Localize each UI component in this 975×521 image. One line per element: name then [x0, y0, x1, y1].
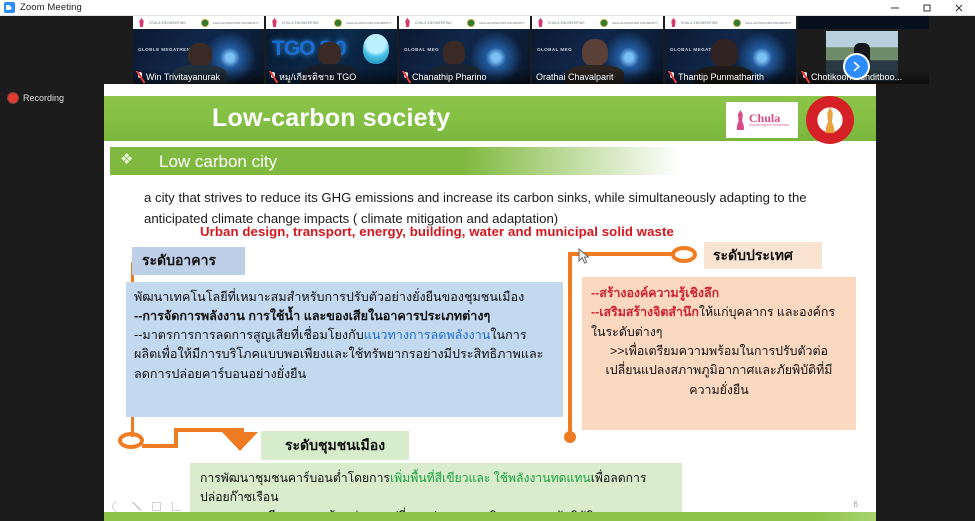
- university-seal-icon: [467, 19, 475, 27]
- undo-icon[interactable]: [110, 500, 123, 513]
- thumbnail-banner: CHULA ENGINEERING CHULALONGKORN UNIVERSI…: [399, 16, 530, 29]
- university-seal-icon: [201, 19, 209, 27]
- chula-emblem-icon: [404, 18, 411, 27]
- thumbnail-name-bar: Thantip Punmatharith: [665, 69, 796, 84]
- box-country-line-2: --เสริมสร้างจิตสำนึกให้แก่บุคลากร และองค…: [591, 303, 847, 322]
- slide-subtitle: Low carbon city: [159, 152, 277, 172]
- box-country-line-3: ในระดับต่างๆ: [591, 323, 847, 342]
- thumbnail-watermark: GLOBAL MEG: [404, 47, 439, 52]
- mouse-cursor: [578, 248, 590, 266]
- thumbnail-banner: CHULA ENGINEERING CHULALONGKORN UNIVERSI…: [266, 16, 397, 29]
- banner-left-text: CHULA ENGINEERING: [415, 20, 452, 25]
- mute-icon: [403, 72, 409, 82]
- box-community-line-1: การพัฒนาชุมชนคาร์บอนต่ำโดยการเพิ่มพื้นที…: [200, 469, 672, 507]
- thumbnail-banner: CHULA ENGINEERING CHULALONGKORN UNIVERSI…: [532, 16, 663, 29]
- box-country-level: --สร้างองค์ความรู้เชิงลึก --เสริมสร้างจิ…: [582, 277, 856, 430]
- thumbnail-watermark: GLOBLE MEGATREN: [138, 47, 190, 52]
- chula-emblem-icon: [537, 18, 544, 27]
- box-building-line-2-rest: ประเภทต่างๆ: [420, 309, 491, 323]
- record-dot-icon: [8, 93, 18, 103]
- window-controls: [879, 0, 975, 16]
- minimize-icon[interactable]: [879, 0, 911, 16]
- connector-ring-country: [671, 246, 697, 263]
- thumbnail-watermark: GLOBAL MEG: [537, 47, 572, 52]
- label-country-level: ระดับประเทศ: [704, 242, 822, 269]
- banner-right-text: CHULALONGKORN UNIVERSITY: [612, 21, 658, 25]
- banner-right-text: CHULALONGKORN UNIVERSITY: [745, 21, 791, 25]
- box-community-line-1-pre: การพัฒนาชุมชนคาร์บอนต่ำโดยการ: [200, 471, 390, 485]
- box-community-line-1-highlight: เพิ่มพื้นที่สีเขียวและ ใช้พลังงานทดแทน: [390, 471, 591, 485]
- chula-emblem-icon: [271, 18, 278, 27]
- thumbnail-banner: CHULA ENGINEERING CHULALONGKORN UNIVERSI…: [665, 16, 796, 29]
- participant-thumbnail[interactable]: CHULA ENGINEERING CHULALONGKORN UNIVERSI…: [133, 16, 264, 84]
- mute-icon: [270, 72, 276, 82]
- slide-sectors-text: Urban design, transport, energy, buildin…: [200, 224, 820, 239]
- box-country-line-2-rest: ให้แก่บุคลากร และองค์กร: [699, 305, 835, 319]
- mute-icon: [802, 72, 808, 82]
- thumbnail-banner: CHULA ENGINEERING CHULALONGKORN UNIVERSI…: [133, 16, 264, 29]
- slide-title: Low-carbon society: [212, 104, 732, 133]
- thumbnail-name-bar: Orathai Chavalparit: [532, 69, 663, 84]
- connector-building-h1: [142, 444, 178, 448]
- recording-indicator[interactable]: Recording: [8, 93, 64, 103]
- slide-page-number: 6: [854, 500, 858, 509]
- window-title: Zoom Meeting: [20, 2, 82, 13]
- box-building-line-5: ลดการปล่อยคาร์บอนอย่างยั่งยืน: [134, 365, 555, 384]
- mute-icon: [669, 72, 675, 82]
- slide-footer-band: [104, 512, 876, 521]
- eraser-icon[interactable]: [152, 502, 161, 511]
- zoom-meeting-canvas: CHULA ENGINEERING CHULALONGKORN UNIVERSI…: [0, 16, 975, 521]
- box-building-line-3: --มาตรการการลดการสูญเสียที่เชื่อมโยงกับแ…: [134, 326, 555, 345]
- banner-left-text: CHULA ENGINEERING: [548, 20, 585, 25]
- participant-thumbnail[interactable]: CHULA ENGINEERING CHULALONGKORN UNIVERSI…: [665, 16, 796, 84]
- chula-subtext: Chulalongkorn University: [749, 124, 789, 127]
- connector-arrow-down: [222, 432, 258, 451]
- banner-left-text: CHULA ENGINEERING: [681, 20, 718, 25]
- close-icon[interactable]: [943, 0, 975, 16]
- participant-name: Orathai Chavalparit: [536, 72, 614, 82]
- label-building-level: ระดับอาคาร: [132, 247, 245, 275]
- shared-slide: Low-carbon society Chula Chulalongkorn U…: [104, 84, 876, 521]
- zoom-app-icon: [4, 2, 15, 13]
- leaf-icon: ❖: [120, 152, 140, 170]
- box-country-line-2-red: --เสริมสร้างจิตสำนึก: [591, 305, 699, 319]
- connector-ring-building: [118, 432, 144, 449]
- box-building-line-2: --การจัดการพลังงาน การใช้น้ำ และของเสียใ…: [134, 307, 555, 326]
- box-building-line-3-post: ในการ: [490, 328, 526, 342]
- chula-emblem-icon: [735, 110, 746, 130]
- box-building-level: พัฒนาเทคโนโลยีที่เหมาะสมสำหรับการปรับตัว…: [126, 282, 563, 417]
- participant-name: Chanathip Pharino: [412, 72, 487, 82]
- banner-left-text: CHULA ENGINEERING: [282, 20, 319, 25]
- connector-country-v1: [568, 252, 572, 437]
- banner-left-text: CHULA ENGINEERING: [149, 20, 186, 25]
- chula-logo: Chula Chulalongkorn University: [726, 102, 798, 138]
- banner-right-text: CHULALONGKORN UNIVERSITY: [479, 21, 525, 25]
- banner-right-text: CHULALONGKORN UNIVERSITY: [346, 21, 392, 25]
- maximize-icon[interactable]: [911, 0, 943, 16]
- mute-icon: [137, 72, 143, 82]
- window-title-bar: Zoom Meeting: [0, 0, 975, 16]
- chula-emblem-icon: [670, 18, 677, 27]
- box-community-level: การพัฒนาชุมชนคาร์บอนต่ำโดยการเพิ่มพื้นที…: [190, 463, 682, 517]
- box-building-line-1: พัฒนาเทคโนโลยีที่เหมาะสมสำหรับการปรับตัว…: [134, 288, 555, 307]
- recording-label: Recording: [23, 93, 64, 103]
- box-country-line-1: --สร้างองค์ความรู้เชิงลึก: [591, 284, 847, 303]
- thumbnail-name-bar: Win Trivitayanurak: [133, 69, 264, 84]
- box-country-line-4: >>เพื่อเตรียมความพร้อมในการปรับตัวต่อ: [591, 342, 847, 361]
- connector-country-h1: [657, 252, 673, 256]
- participant-thumbnail-active-speaker[interactable]: CHULA ENGINEERING CHULALONGKORN UNIVERSI…: [532, 16, 663, 84]
- tgo-mascot-icon: [363, 34, 389, 64]
- pen-icon[interactable]: [132, 502, 141, 511]
- box-country-line-5: เปลี่ยนแปลงสภาพภูมิอากาศและภัยพิบัติที่ม…: [591, 361, 847, 380]
- participant-filmstrip: CHULA ENGINEERING CHULALONGKORN UNIVERSI…: [133, 16, 929, 84]
- thumbnail-name-bar: Chanathip Pharino: [399, 69, 530, 84]
- thumbnail-name-bar: หมู/เกียรติชาย TGO: [266, 69, 397, 84]
- box-building-line-3-highlight: แนวทางการลดพลังงาน: [364, 328, 491, 342]
- connector-dot-country: [564, 431, 576, 443]
- banner-right-text: CHULALONGKORN UNIVERSITY: [213, 21, 259, 25]
- university-seal-icon: [334, 19, 342, 27]
- participant-thumbnail[interactable]: CHULA ENGINEERING CHULALONGKORN UNIVERSI…: [399, 16, 530, 84]
- participant-thumbnail[interactable]: CHULA ENGINEERING CHULALONGKORN UNIVERSI…: [266, 16, 397, 84]
- box-building-line-4: ผลิตเพื่อให้มีการบริโภคแบบพอเพียงและใช้ท…: [134, 345, 555, 364]
- label-community-level: ระดับชุมชนเมือง: [261, 431, 409, 460]
- university-seal-icon: [600, 19, 608, 27]
- chula-emblem-icon: [138, 18, 145, 27]
- hand-icon[interactable]: [172, 502, 181, 511]
- chevron-right-icon: [850, 60, 863, 73]
- box-building-line-2-bold: --การจัดการพลังงาน การใช้น้ำ และของเสียใ…: [134, 309, 420, 323]
- participant-name: Thantip Punmatharith: [678, 72, 764, 82]
- university-seal-icon: [733, 19, 741, 27]
- participant-name: Win Trivitayanurak: [146, 72, 220, 82]
- box-country-line-6: ความยั่งยืน: [591, 381, 847, 400]
- box-building-line-3-pre: --มาตรการการลดการสูญเสียที่เชื่อมโยงกับ: [134, 328, 364, 342]
- annotation-toolbar[interactable]: [112, 502, 181, 511]
- university-seal-icon: [806, 96, 854, 144]
- participant-name: หมู/เกียรติชาย TGO: [279, 70, 356, 84]
- filmstrip-next-button[interactable]: [843, 53, 870, 80]
